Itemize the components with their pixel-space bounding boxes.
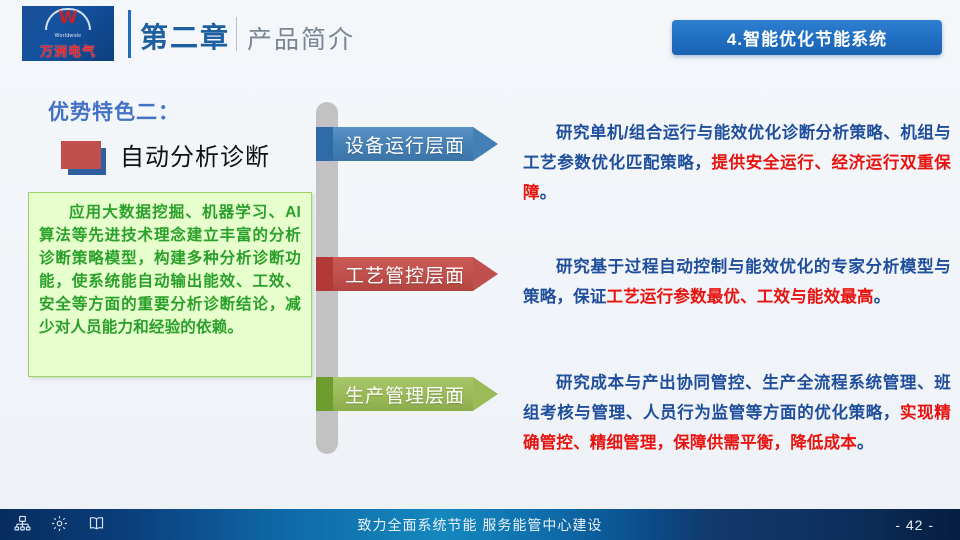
section-banner: 4.智能优化节能系统 — [672, 20, 942, 55]
logo-latin-name: Worldwide — [55, 33, 82, 39]
logo-emblem-icon: W — [45, 8, 91, 32]
level-text-normal: 研究成本与产出协同管控、生产全流程系统管理、班组考核与管理、人员行为监管等方面的… — [523, 374, 951, 422]
level-description-2: 研究基于过程自动控制与能效优化的专家分析模型与策略，保证工艺运行参数最优、工效与… — [523, 252, 951, 312]
level-arrow-label: 工艺管控层面 — [333, 261, 465, 288]
level-arrow-process: 工艺管控层面 — [333, 257, 498, 291]
slide-header: W Worldwide 万洲电气 第二章 产品简介 4.智能优化节能系统 — [0, 0, 960, 72]
level-description-3: 研究成本与产出协同管控、生产全流程系统管理、班组考核与管理、人员行为监管等方面的… — [523, 368, 951, 458]
level-text-highlight: 工艺运行参数最优、工效与能效最高 — [607, 288, 874, 306]
level-arrow-label: 生产管理层面 — [333, 381, 465, 408]
logo-letter: W — [45, 10, 91, 27]
header-accent-bar — [128, 10, 131, 58]
level-arrow-production: 生产管理层面 — [333, 377, 498, 411]
level-arrow-equipment: 设备运行层面 — [333, 127, 498, 161]
company-logo: W Worldwide 万洲电气 — [22, 6, 114, 61]
bullet-square-icon — [61, 141, 101, 169]
chapter-title: 第二章 — [140, 16, 230, 56]
title-divider — [236, 17, 237, 51]
section-banner-label: 4.智能优化节能系统 — [727, 25, 887, 50]
slide-canvas: W Worldwide 万洲电气 第二章 产品简介 4.智能优化节能系统 优势特… — [0, 0, 960, 540]
page-number: - 42 - — [895, 509, 934, 540]
feature-bullet: 自动分析诊断 — [58, 138, 308, 178]
description-callout: 应用大数据挖掘、机器学习、AI算法等先进技术理念建立丰富的分析诊断策略模型，构建… — [28, 192, 312, 377]
description-text: 应用大数据挖掘、机器学习、AI算法等先进技术理念建立丰富的分析诊断策略模型，构建… — [39, 201, 301, 339]
slide-footer: 致力全面系统节能 服务能管中心建设 - 42 - — [0, 509, 960, 540]
level-arrow-label: 设备运行层面 — [333, 131, 465, 158]
footer-slogan: 致力全面系统节能 服务能管中心建设 — [0, 509, 960, 540]
level-text-tail: 。 — [540, 184, 557, 202]
level-text-tail: 。 — [857, 434, 874, 452]
feature-heading: 优势特色二： — [48, 96, 180, 126]
level-description-1: 研究单机/组合运行与能效优化诊断分析策略、机组与工艺参数优化匹配策略，提供安全运… — [523, 118, 951, 208]
logo-company-name: 万洲电气 — [40, 41, 96, 60]
bullet-label: 自动分析诊断 — [120, 137, 270, 172]
page-subtitle: 产品简介 — [247, 20, 355, 56]
level-text-tail: 。 — [874, 288, 891, 306]
